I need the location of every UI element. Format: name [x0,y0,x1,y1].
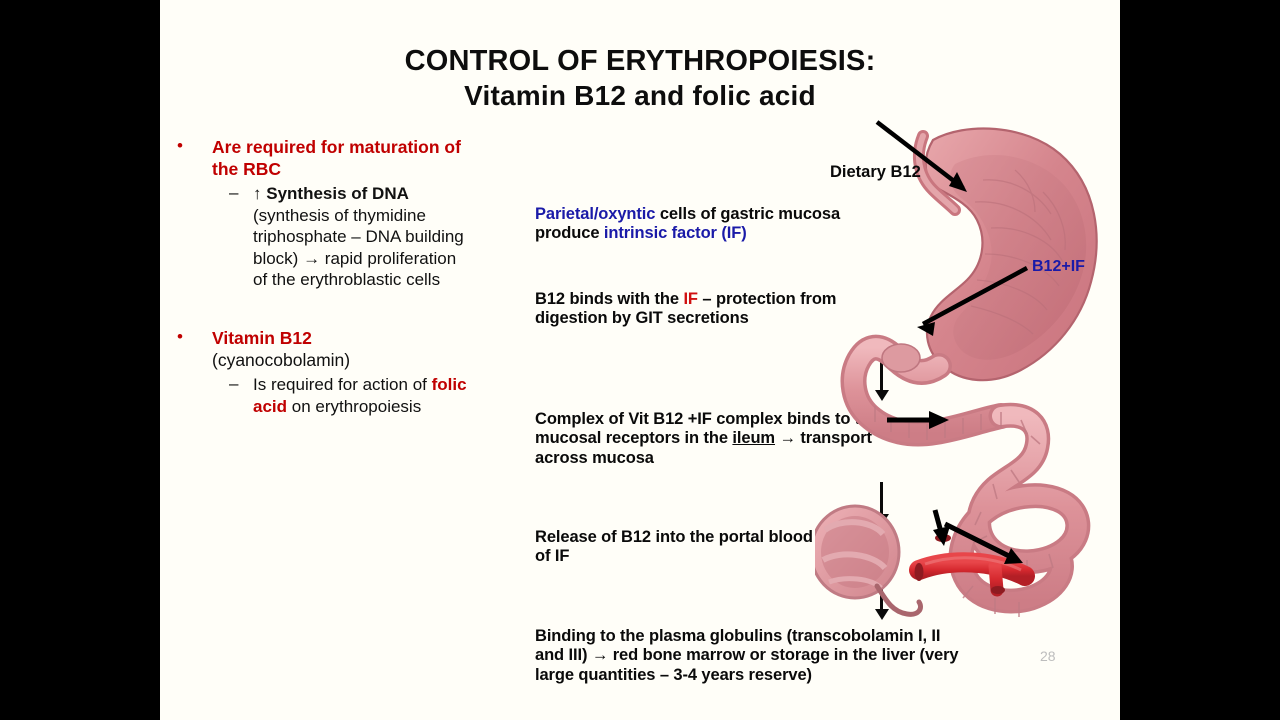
sub-bullet-1-rest: (synthesis of thymidine triphosphate – D… [253,206,464,290]
spacer [165,291,470,327]
sub-bullet-2-pre: Is required for action of [253,375,432,394]
label-dietary-b12: Dietary B12 [830,163,921,182]
slide-title: CONTROL OF ERYTHROPOIESIS: Vitamin B12 a… [160,44,1120,112]
title-line-1: CONTROL OF ERYTHROPOIESIS: [160,44,1120,79]
flow-step-1-blue-1: Parietal/oxyntic [535,205,655,223]
sub-bullet-1-text: ↑ Synthesis of DNA (synthesis of thymidi… [253,184,464,289]
sub-bullet-1: – ↑ Synthesis of DNA (synthesis of thymi… [165,183,470,291]
title-line-2: Vitamin B12 and folic acid [160,79,1120,113]
bullet-item-1: • Are required for maturation of the RBC [165,136,470,180]
dash-marker-icon: – [229,184,238,201]
flow-step-5: Binding to the plasma globulins (transco… [535,627,965,685]
bullet-item-2: • Vitamin B12(cyanocobolamin) [165,327,470,371]
slide-canvas: CONTROL OF ERYTHROPOIESIS: Vitamin B12 a… [160,0,1120,720]
bullet-marker-icon-2: • [177,328,183,345]
sub-bullet-2-text: Is required for action of folic acid on … [253,375,467,416]
dash-marker-icon-2: – [229,375,238,392]
sub-bullet-1-bold: Synthesis of DNA [266,184,409,203]
sub-bullet-2-post: on erythropoiesis [287,397,421,416]
stomach-shape [919,128,1097,380]
bullet-item-2-text: Vitamin B12(cyanocobolamin) [212,328,350,370]
label-b12-plus-if: B12+IF [1032,258,1085,276]
letterbox-bar-right [1120,0,1280,720]
flow-step-1-blue-2: intrinsic factor (IF) [604,224,747,242]
up-arrow-icon: ↑ [253,184,262,203]
sub-bullet-2: – Is required for action of folic acid o… [165,374,470,417]
stomach-intestine-svg [815,120,1120,620]
bullet-item-2-plain: (cyanocobolamin) [212,350,350,370]
bullet-item-2-red: Vitamin B12 [212,328,312,348]
cecum-cross-section [815,506,921,614]
flow-step-3-underline: ileum [732,429,775,447]
slide-number: 28 [1040,648,1056,664]
left-bullet-column: • Are required for maturation of the RBC… [165,136,470,417]
bullet-item-1-text: Are required for maturation of the RBC [212,137,461,179]
flow-step-2-pre: B12 binds with the [535,290,683,308]
flow-step-2-red: IF [683,290,697,308]
digestive-tract-illustration [815,120,1120,620]
letterbox-bar-left [0,0,160,720]
screenshot-root: CONTROL OF ERYTHROPOIESIS: Vitamin B12 a… [0,0,1280,720]
bullet-marker-icon: • [177,137,183,154]
